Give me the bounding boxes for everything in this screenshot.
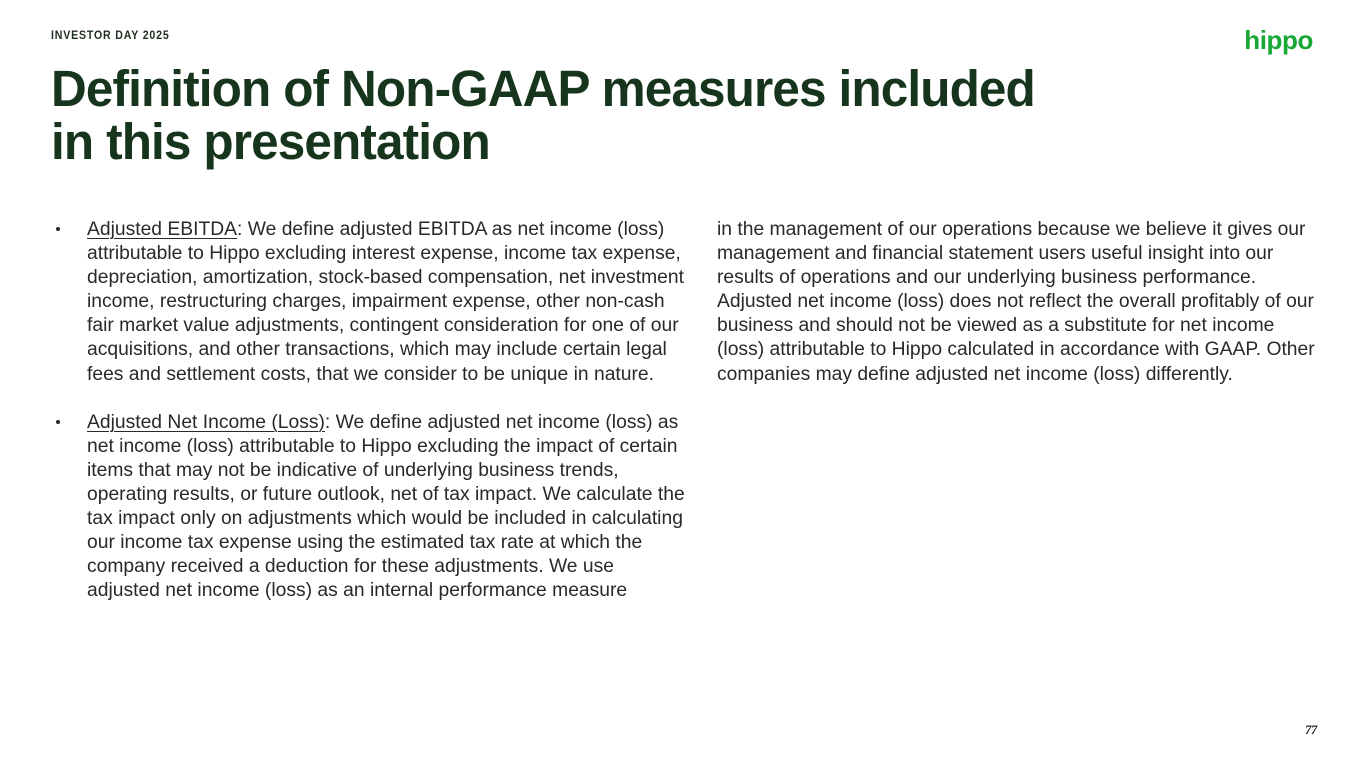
term-label: Adjusted EBITDA [87,219,237,240]
left-column: Adjusted EBITDA: We define adjusted EBIT… [51,218,691,603]
page-number: 77 [1305,723,1317,738]
definition-continuation-text: in the management of our operations beca… [717,218,1317,387]
definition-text: We define adjusted EBITDA as net income … [87,219,684,385]
hippo-logo: hippo [1244,27,1313,53]
list-item: Adjusted Net Income (Loss): We define ad… [51,411,691,604]
eyebrow-label: INVESTOR DAY 2025 [51,30,170,42]
bullet-text: Adjusted EBITDA: We define adjusted EBIT… [87,218,691,387]
bullet-dot-icon [56,420,60,424]
page-title: Definition of Non-GAAP measures included… [51,62,1147,168]
bullet-text: Adjusted Net Income (Loss): We define ad… [87,411,691,604]
definition-text: We define adjusted net income (loss) as … [87,412,685,602]
page-title-line-2: in this presentation [51,115,1147,168]
list-item: Adjusted EBITDA: We define adjusted EBIT… [51,218,691,387]
slide: INVESTOR DAY 2025 hippo Definition of No… [0,0,1365,768]
body-content: Adjusted EBITDA: We define adjusted EBIT… [51,218,1316,688]
term-separator: : [325,412,336,433]
term-label: Adjusted Net Income (Loss) [87,412,325,433]
term-separator: : [237,219,248,240]
bullet-dot-icon [56,227,60,231]
right-column: in the management of our operations beca… [717,218,1317,387]
page-title-line-1: Definition of Non-GAAP measures included [51,62,1147,115]
